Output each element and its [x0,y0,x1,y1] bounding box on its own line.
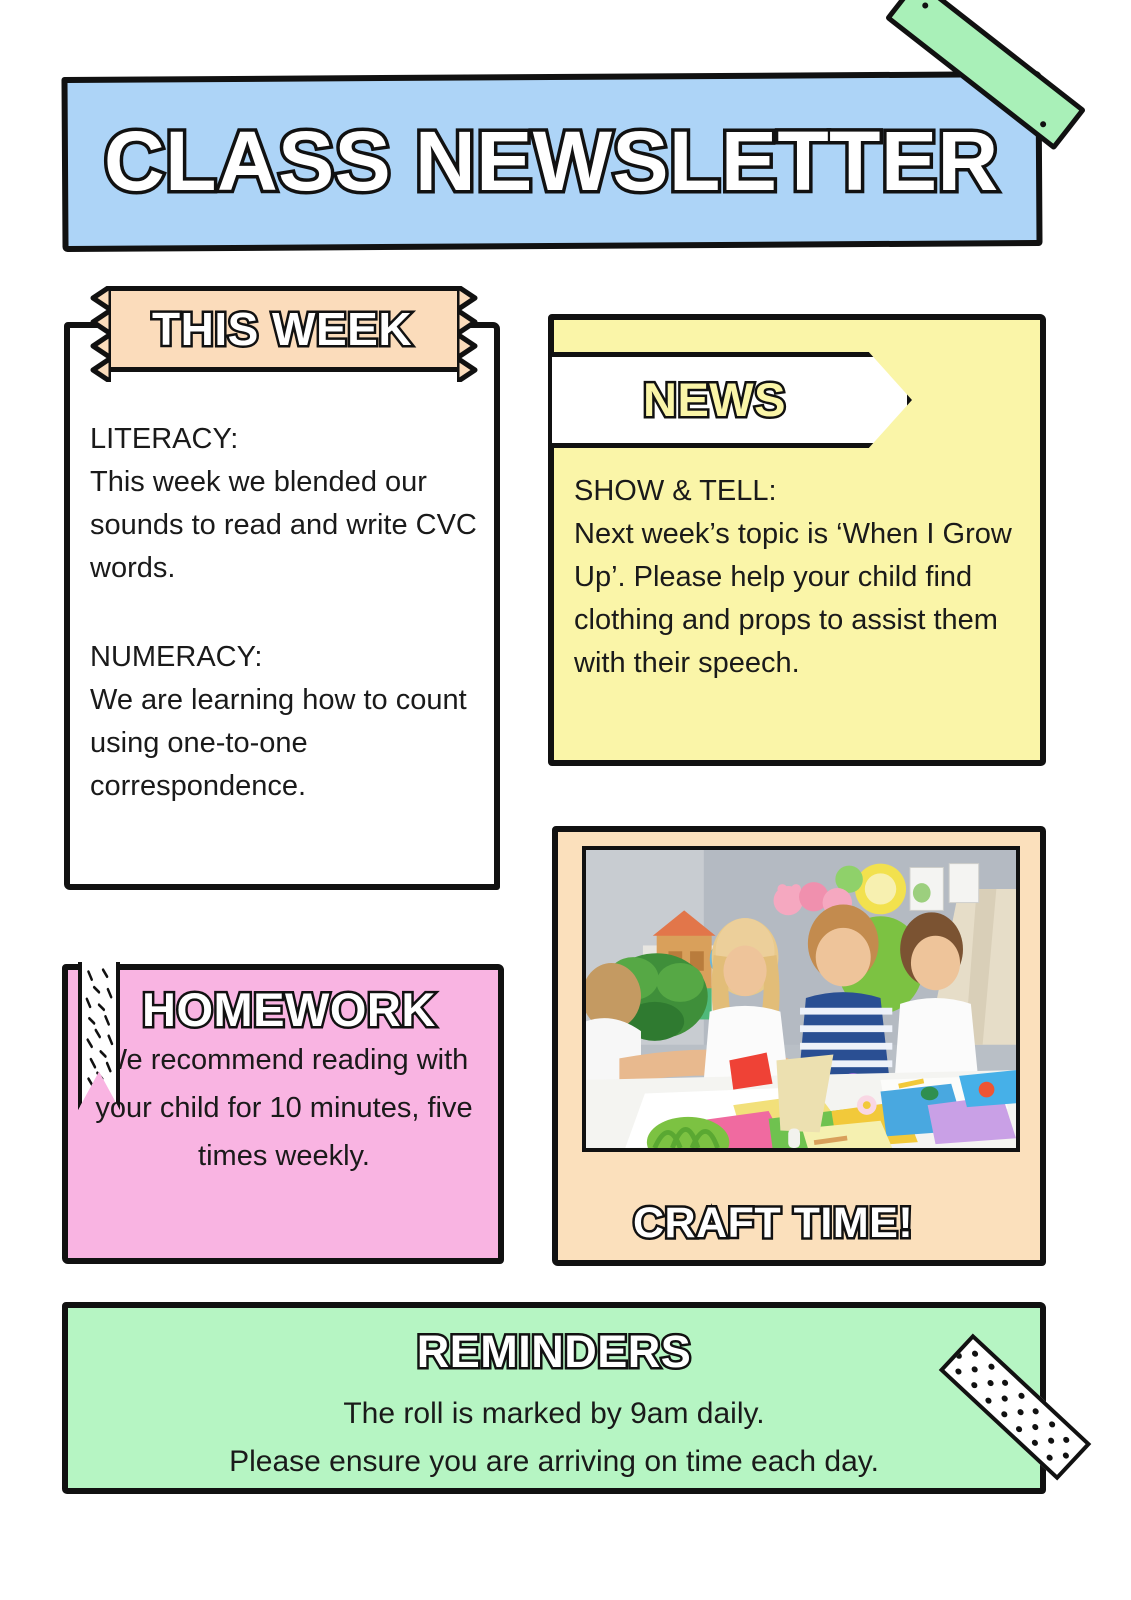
zigzag-right-icon [457,286,479,382]
show-and-tell-text: Next week’s topic is ‘When I Grow Up’. P… [574,513,1024,685]
this-week-label: THIS WEEK [152,294,412,364]
reminder-line-2: Please ensure you are arriving on time e… [0,1438,1108,1486]
numeracy-heading: NUMERACY: [90,636,480,679]
newsletter-page: CLASS NEWSLETTER THIS WEEK LITERACY: Thi… [0,0,1131,1600]
craft-time-caption: CRAFT TIME! [633,1190,913,1256]
news-label: NEWS [643,364,786,436]
craft-photo-illustration [586,850,1016,1148]
this-week-body: LITERACY: This week we blended our sound… [90,418,480,808]
numeracy-text: We are learning how to count using one-t… [90,679,480,808]
literacy-heading: LITERACY: [90,418,480,461]
page-title: CLASS NEWSLETTER [104,96,999,226]
reminders-label: REMINDERS [0,1318,1108,1386]
reminders-body: The roll is marked by 9am daily. Please … [0,1390,1108,1486]
literacy-text: This week we blended our sounds to read … [90,461,480,590]
show-and-tell-heading: SHOW & TELL: [574,470,1024,513]
homework-text: We recommend reading with your child for… [86,1036,482,1180]
reminder-line-1: The roll is marked by 9am daily. [0,1390,1108,1438]
craft-photo [582,846,1020,1152]
zigzag-left-icon [89,286,111,382]
news-body: SHOW & TELL: Next week’s topic is ‘When … [574,470,1024,685]
homework-label: HOMEWORK [142,974,436,1046]
section-spacer [90,590,480,636]
